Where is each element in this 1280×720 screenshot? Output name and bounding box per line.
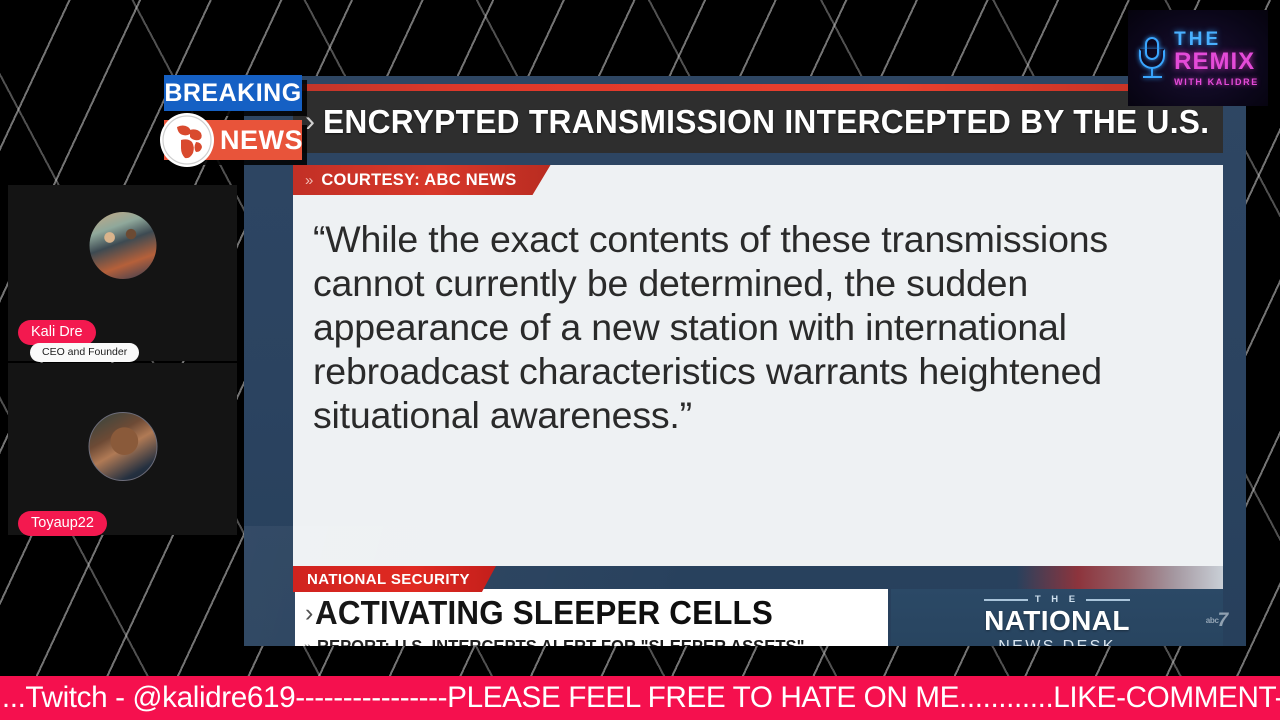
show-logo-text: THE REMIX WITH KALIDRE: [1174, 30, 1259, 87]
show-logo-the: THE: [1174, 30, 1259, 49]
quote-panel: “While the exact contents of these trans…: [293, 165, 1223, 566]
show-logo-remix: REMIX: [1174, 50, 1259, 74]
show-logo-with: WITH KALIDRE: [1174, 78, 1259, 87]
participant-name: Toyaup22: [18, 511, 107, 536]
broadcast-video-frame[interactable]: › ENCRYPTED TRANSMISSION INTERCEPTED BY …: [244, 76, 1246, 646]
headline-text: ENCRYPTED TRANSMISSION INTERCEPTED BY TH…: [323, 103, 1209, 141]
rule-left: [984, 599, 1028, 601]
courtesy-banner: » COURTESY: ABC NEWS: [293, 165, 551, 195]
news-badge: NEWS: [164, 120, 302, 160]
news-desk-name: NATIONAL: [984, 606, 1130, 635]
abc7-watermark-seven: 7: [1218, 611, 1229, 630]
lower-third-subtitle: REPORT: U.S. INTERCEPTS ALERT FOR "SLEEP…: [317, 636, 804, 647]
globe-icon: [160, 113, 214, 167]
microphone-icon: [1137, 35, 1167, 81]
news-desk-sub: NEWS DESK: [998, 638, 1116, 646]
participant-name: Kali Dre: [18, 320, 96, 345]
bottom-ticker: ....Twitch - @kalidre619----------------…: [0, 676, 1280, 720]
headline-bar: › ENCRYPTED TRANSMISSION INTERCEPTED BY …: [293, 91, 1223, 153]
category-tag: NATIONAL SECURITY: [293, 566, 496, 592]
rule-right: [1086, 599, 1130, 601]
lower-third-banner: › ACTIVATING SLEEPER CELLS » REPORT: U.S…: [295, 589, 888, 646]
quote-text: “While the exact contents of these trans…: [313, 217, 1209, 437]
news-badge-label: NEWS: [220, 125, 303, 156]
chevron-right-icon: ›: [305, 107, 315, 137]
lower-third-title-row: › ACTIVATING SLEEPER CELLS: [295, 592, 888, 634]
stream-canvas: › ENCRYPTED TRANSMISSION INTERCEPTED BY …: [0, 0, 1280, 720]
abc7-watermark-icon: abc 7: [1200, 608, 1234, 632]
lower-third-subtitle-row: » REPORT: U.S. INTERCEPTS ALERT FOR "SLE…: [295, 634, 888, 646]
show-logo: THE REMIX WITH KALIDRE: [1128, 10, 1268, 106]
category-tag-label: NATIONAL SECURITY: [307, 571, 470, 588]
headline-accent-bar: [293, 84, 1223, 91]
lower-third-title: ACTIVATING SLEEPER CELLS: [315, 594, 773, 632]
avatar: [88, 412, 157, 481]
courtesy-label: COURTESY: ABC NEWS: [321, 171, 516, 190]
news-desk-the: T H E: [1035, 594, 1079, 605]
chevron-right-icon: ›: [305, 601, 313, 626]
participant-tile[interactable]: Kali Dre CEO and Founder: [8, 185, 237, 361]
breaking-badge-label: BREAKING: [164, 79, 301, 108]
avatar: [89, 212, 156, 279]
participant-role: CEO and Founder: [30, 343, 139, 362]
ticker-text: ....Twitch - @kalidre619----------------…: [0, 681, 1280, 715]
news-desk-the-row: T H E: [984, 594, 1130, 605]
breaking-badge: BREAKING: [164, 75, 302, 111]
participant-tile[interactable]: Toyaup22: [8, 363, 237, 535]
double-chevron-icon: »: [304, 638, 312, 646]
double-chevron-icon: »: [305, 172, 313, 189]
news-desk-logo: T H E NATIONAL NEWS DESK: [891, 589, 1223, 646]
